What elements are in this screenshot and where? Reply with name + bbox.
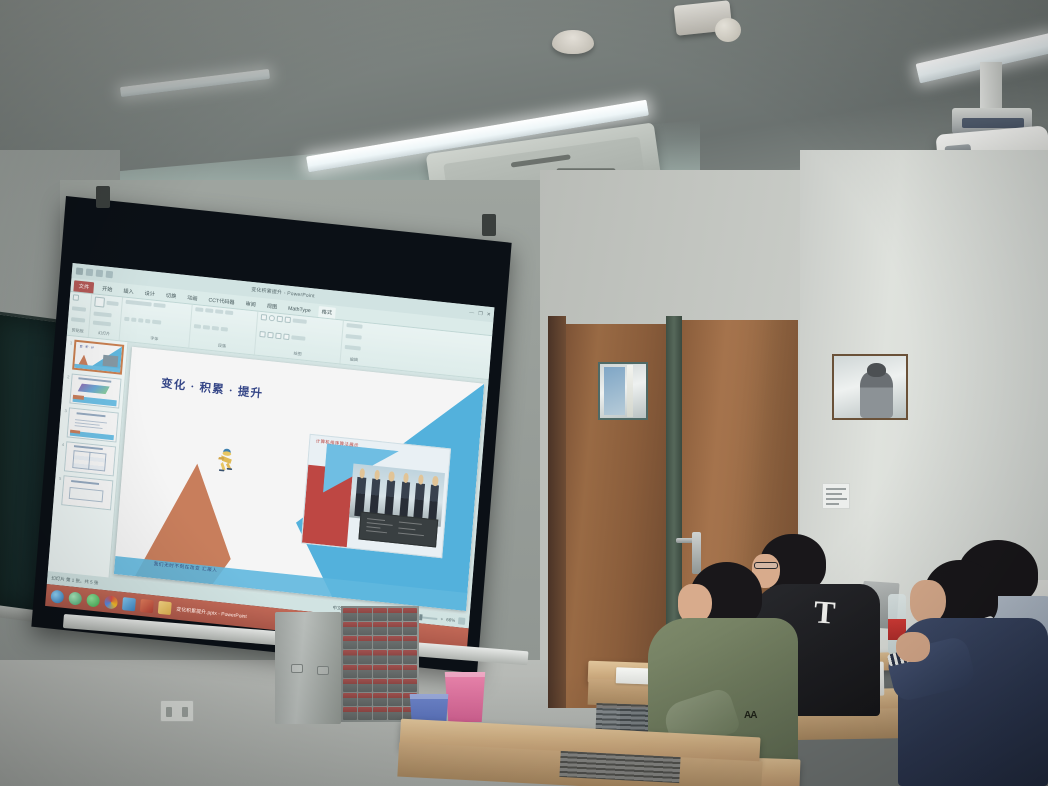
door-window-glass [604,367,625,415]
screen-bracket-right [482,214,496,236]
jacket-letter: T [813,595,837,628]
shape-circle-icon[interactable] [269,315,275,322]
cut-icon[interactable] [72,307,86,312]
restore-icon[interactable]: ❐ [478,310,483,316]
section-icon[interactable] [93,320,111,326]
italic-icon[interactable] [131,317,136,322]
thumbnail-number: 3 [63,407,67,413]
justify-icon[interactable] [221,326,228,331]
arrange-icon[interactable] [293,318,307,323]
wall-notice-sign [822,483,850,509]
door-window-right [832,354,908,420]
jacket-badge: AA [744,710,756,721]
tab-animations[interactable]: 动画 [184,292,201,305]
shape-arrow-icon[interactable] [277,316,283,323]
font-size-box[interactable] [153,303,165,308]
thumbnail-5[interactable] [61,475,113,510]
powerpoint-icon[interactable] [140,598,154,612]
thumbnail-item[interactable]: 3 [61,407,120,443]
align-right-icon[interactable] [212,325,219,330]
thumbnail-1[interactable]: 変 · 积 · 升 [72,340,124,375]
ac-vent-top [511,154,571,167]
wechat-icon[interactable] [86,593,100,607]
thumbnail-item[interactable]: 5 [55,475,114,511]
student-navy-jacket [898,556,1048,786]
pink-waste-bin [443,672,487,722]
ceiling-dome-icon [715,18,741,42]
start-icon[interactable] [50,589,64,603]
tab-transitions[interactable]: 切换 [162,290,179,303]
thumbnail-item[interactable]: 1 変 · 积 · 升 [66,339,125,375]
chrome-icon[interactable] [104,595,118,609]
slide-editing-area[interactable]: 变化 · 积累 · 提升 计算机排序算法展示 [110,342,489,615]
thumbnail-2[interactable] [69,374,121,409]
thumbnail-item[interactable]: 4 [58,441,117,477]
projector-pole [980,62,1002,114]
ribbon-group-editing[interactable]: 编辑 [340,321,369,367]
person-through-window [860,372,893,418]
shape-callout-icon[interactable] [275,332,281,339]
door-window-strip [627,365,633,417]
select-icon[interactable] [345,345,361,351]
bullets-icon[interactable] [195,307,203,312]
underline-icon[interactable] [138,318,143,323]
font-name-box[interactable] [126,300,152,307]
tab-design[interactable]: 设计 [141,287,158,300]
thumbnail-item[interactable]: 2 [63,373,122,409]
ribbon-group-paragraph[interactable]: 段落 [189,305,258,355]
clasped-hands [896,632,930,662]
ribbon-group-drawing[interactable]: 绘图 [255,312,344,364]
ribbon-group-slides[interactable]: 幻灯片 [89,294,123,340]
indent-icon[interactable] [215,309,223,314]
layout-icon[interactable] [106,301,118,306]
fit-slide-icon[interactable] [458,617,466,625]
thumbnail-number: 4 [60,441,64,447]
shadow-icon[interactable] [145,318,150,323]
students-group-photo: 计算机排序算法展示 [301,434,451,558]
thumbnail-number: 5 [57,475,61,481]
projector-mount-bracket [962,118,1024,128]
wall-power-outlet[interactable] [160,700,194,722]
thumbnail-4[interactable] [64,441,116,476]
smoke-detector-icon [552,30,594,54]
shape-line-icon[interactable] [285,317,291,324]
current-slide[interactable]: 变化 · 积累 · 提升 计算机排序算法展示 [114,347,484,611]
align-left-icon[interactable] [194,324,201,329]
ppt-body: 1 変 · 积 · 升 2 [48,336,489,616]
thumbnail-number: 1 [68,339,72,345]
ribbon-group-label-slides: 幻灯片 [92,329,116,337]
paste-icon[interactable] [73,294,79,301]
numbering-icon[interactable] [205,308,213,313]
ribbon-group-label-editing: 编辑 [344,356,364,364]
slide-title: 变化 · 积累 · 提升 [161,375,264,402]
shape-banner-icon[interactable] [283,333,289,340]
cabinet-handle-left[interactable] [291,664,303,673]
line-spacing-icon[interactable] [225,310,233,315]
ribbon-group-font[interactable]: 字体 [120,297,193,347]
thumbnail-3[interactable] [67,407,119,442]
ribbon-group-label-clipboard: 剪贴板 [70,327,85,335]
find-icon[interactable] [346,323,362,329]
shape-star-icon[interactable] [267,331,273,338]
tab-format[interactable]: 格式 [318,306,335,319]
bold-icon[interactable] [124,316,129,321]
door-window-left [598,362,648,420]
runner-illustration [214,447,238,473]
door-frame-left [548,316,566,708]
qq-icon[interactable] [122,597,136,611]
close-icon[interactable]: ✕ [486,311,491,317]
powerpoint-window[interactable]: 变化积累提升 - PowerPoint — ❐ ✕ 文件 开始 插入 设计 切换… [47,263,495,628]
tab-insert[interactable]: 插入 [120,285,137,298]
quick-styles-icon[interactable] [291,335,305,340]
zoom-level[interactable]: 66% [446,617,455,623]
tab-view[interactable]: 视图 [263,300,280,313]
shape-rect-icon[interactable] [261,314,267,321]
tab-file[interactable]: 文件 [73,280,94,293]
browser-icon[interactable] [68,591,82,605]
replace-icon[interactable] [346,334,362,340]
metal-storage-cabinet[interactable] [275,612,341,724]
cabinet-handle-right[interactable] [317,666,329,675]
font-color-icon[interactable] [152,319,161,324]
minimize-icon[interactable]: — [469,309,474,316]
shape-tri-icon[interactable] [259,330,265,337]
classroom-scene: 变化积累提升 - PowerPoint — ❐ ✕ 文件 开始 插入 设计 切换… [0,0,1048,786]
copy-icon[interactable] [71,317,85,322]
projection-screen: 变化积累提升 - PowerPoint — ❐ ✕ 文件 开始 插入 设计 切换… [31,196,511,673]
tab-review[interactable]: 审阅 [242,298,259,311]
screen-bracket-left [96,186,110,208]
reset-icon[interactable] [94,312,112,318]
taskbar-active-window[interactable]: 变化积累提升.pptx - PowerPoint [176,605,247,619]
window-controls[interactable]: — ❐ ✕ [469,309,491,317]
align-center-icon[interactable] [203,325,210,330]
folder-icon[interactable] [158,600,172,614]
new-slide-icon[interactable] [94,297,105,308]
zoom-slider-knob[interactable] [420,614,423,620]
phone-storage-pocket-grid[interactable] [341,606,419,722]
tab-home[interactable]: 开始 [99,283,116,296]
zoom-in-icon[interactable]: + [440,616,443,621]
thumbnail-number: 2 [65,373,69,379]
